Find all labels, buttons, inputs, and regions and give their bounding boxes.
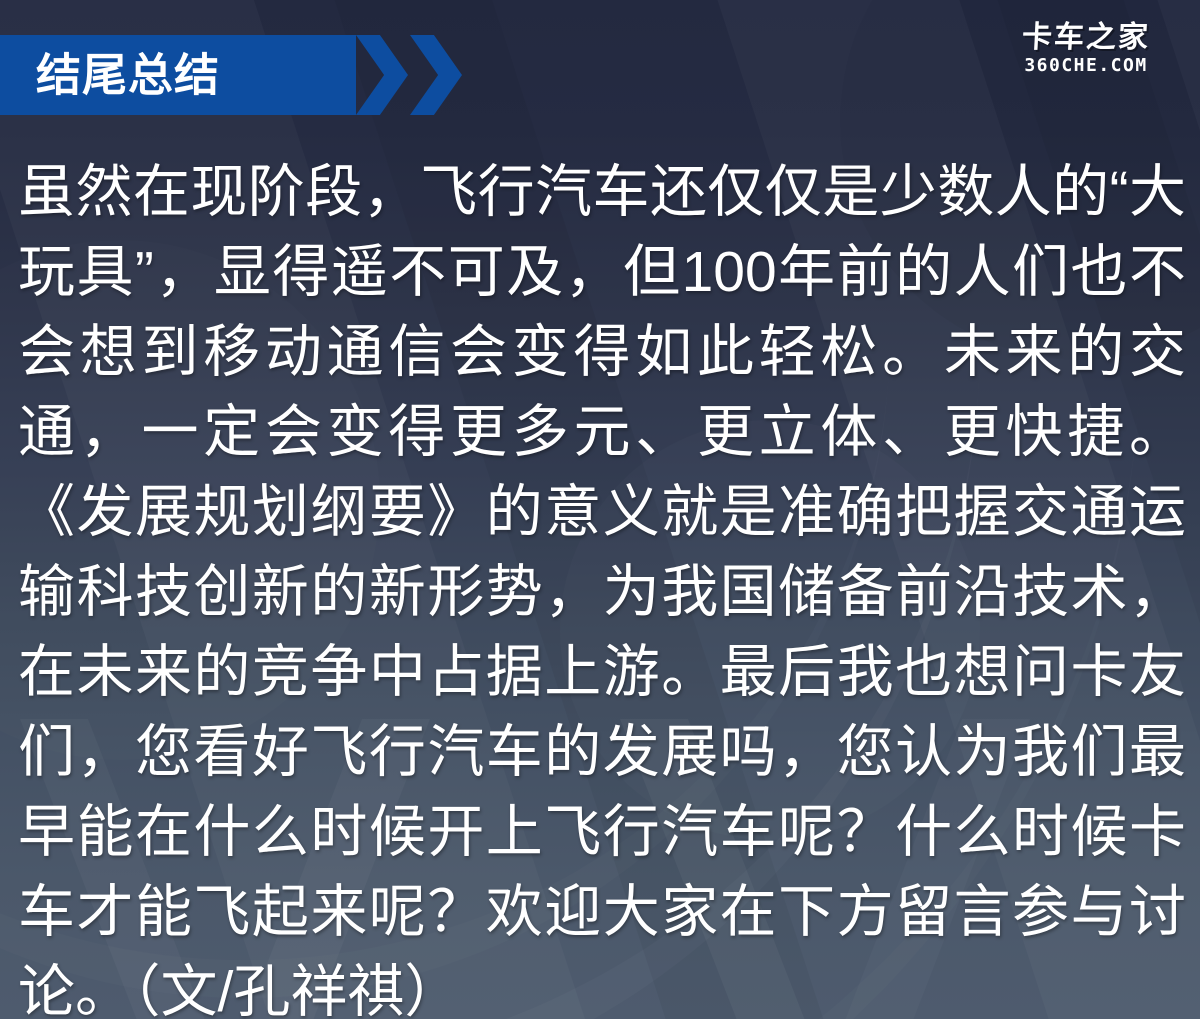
article-paragraph: 虽然在现阶段，飞行汽车还仅仅是少数人的“大玩具”，显得遥不可及，但100年前的人… bbox=[18, 152, 1186, 1019]
chevron-right-icon bbox=[410, 35, 462, 115]
logo-brand-url: 360CHE.COM bbox=[996, 57, 1176, 75]
article-body: 虽然在现阶段，飞行汽车还仅仅是少数人的“大玩具”，显得遥不可及，但100年前的人… bbox=[18, 152, 1186, 1019]
section-title-banner: 结尾总结 bbox=[0, 35, 356, 115]
chevron-right-icon bbox=[356, 35, 408, 115]
header: 结尾总结 卡车之家 360CHE.COM bbox=[0, 0, 1200, 150]
logo-brand-name: 卡车之家 bbox=[995, 22, 1177, 54]
site-logo[interactable]: 卡车之家 360CHE.COM bbox=[996, 22, 1176, 75]
section-title-text: 结尾总结 bbox=[36, 53, 220, 98]
slide-canvas: 结尾总结 卡车之家 360CHE.COM 虽然在现阶段，飞行汽车还仅仅是少数人的… bbox=[0, 0, 1200, 1019]
